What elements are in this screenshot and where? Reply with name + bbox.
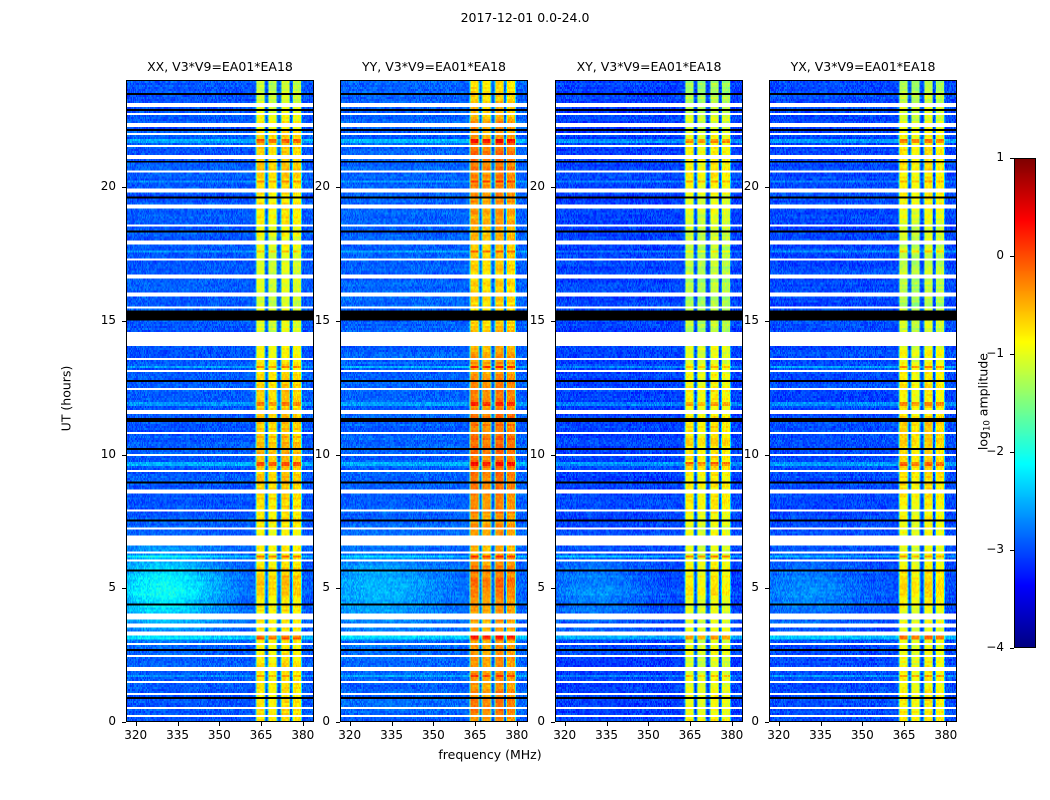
colorbar-gradient: [1014, 158, 1036, 648]
y-tick-label: 10: [705, 447, 759, 461]
x-tick-mark: [904, 722, 905, 726]
x-tick-mark: [219, 722, 220, 726]
panel-yy: YY, V3*V9=EA01*EA18: [340, 80, 528, 722]
y-tick-mark: [336, 722, 340, 723]
waterfall-image-xx: [126, 80, 314, 722]
y-tick-mark: [551, 187, 555, 188]
y-tick-mark: [765, 455, 769, 456]
colorbar-tick-mark: [1010, 452, 1014, 453]
y-tick-label: 20: [276, 179, 330, 193]
x-tick-mark: [648, 722, 649, 726]
x-tick-mark: [690, 722, 691, 726]
x-tick-label: 380: [492, 728, 542, 742]
x-tick-mark: [136, 722, 137, 726]
y-tick-label: 20: [62, 179, 116, 193]
y-tick-label: 15: [705, 313, 759, 327]
y-tick-label: 10: [62, 447, 116, 461]
y-tick-label: 20: [491, 179, 545, 193]
figure-suptitle: 2017-12-01 0.0-24.0: [0, 10, 1050, 25]
figure-canvas: 2017-12-01 0.0-24.0 XX, V3*V9=EA01*EA18Y…: [0, 0, 1050, 800]
colorbar-label-subscript: 10: [983, 420, 993, 431]
y-tick-mark: [336, 455, 340, 456]
colorbar-tick-label: 0: [954, 248, 1004, 262]
y-tick-mark: [551, 321, 555, 322]
y-tick-label: 15: [491, 313, 545, 327]
y-tick-mark: [765, 187, 769, 188]
colorbar: [1014, 158, 1036, 648]
y-tick-mark: [336, 187, 340, 188]
y-tick-mark: [122, 588, 126, 589]
y-tick-label: 0: [62, 714, 116, 728]
y-tick-label: 10: [276, 447, 330, 461]
x-tick-label: 380: [921, 728, 971, 742]
x-tick-mark: [779, 722, 780, 726]
waterfall-image-yy: [340, 80, 528, 722]
waterfall-image-xy: [555, 80, 743, 722]
waterfall-image-yx: [769, 80, 957, 722]
y-tick-label: 5: [62, 580, 116, 594]
colorbar-tick-label: 1: [954, 150, 1004, 164]
x-axis-label: frequency (MHz): [0, 747, 980, 762]
y-tick-mark: [122, 455, 126, 456]
y-tick-mark: [122, 321, 126, 322]
y-tick-mark: [765, 588, 769, 589]
y-tick-mark: [551, 722, 555, 723]
x-tick-mark: [350, 722, 351, 726]
x-tick-mark: [821, 722, 822, 726]
x-tick-mark: [607, 722, 608, 726]
y-tick-mark: [551, 455, 555, 456]
y-tick-label: 20: [705, 179, 759, 193]
colorbar-tick-label: −3: [954, 542, 1004, 556]
y-tick-mark: [122, 187, 126, 188]
x-tick-label: 380: [278, 728, 328, 742]
y-tick-label: 5: [705, 580, 759, 594]
y-tick-mark: [551, 588, 555, 589]
colorbar-label-prefix: log: [975, 431, 990, 450]
colorbar-tick-mark: [1010, 648, 1014, 649]
y-tick-label: 15: [276, 313, 330, 327]
y-tick-mark: [765, 722, 769, 723]
panel-title-yx: YX, V3*V9=EA01*EA18: [729, 59, 997, 74]
colorbar-tick-mark: [1010, 550, 1014, 551]
colorbar-label: log10 amplitude: [975, 322, 992, 482]
y-tick-label: 15: [62, 313, 116, 327]
y-tick-label: 0: [276, 714, 330, 728]
y-tick-label: 5: [276, 580, 330, 594]
y-tick-label: 10: [491, 447, 545, 461]
y-tick-mark: [122, 722, 126, 723]
x-tick-mark: [433, 722, 434, 726]
x-tick-mark: [946, 722, 947, 726]
panel-xy: XY, V3*V9=EA01*EA18: [555, 80, 743, 722]
y-tick-label: 0: [705, 714, 759, 728]
x-tick-mark: [178, 722, 179, 726]
x-tick-mark: [261, 722, 262, 726]
x-tick-mark: [475, 722, 476, 726]
colorbar-label-suffix: amplitude: [975, 353, 990, 420]
colorbar-tick-mark: [1010, 354, 1014, 355]
panel-xx: XX, V3*V9=EA01*EA18: [126, 80, 314, 722]
y-tick-label: 5: [491, 580, 545, 594]
y-tick-mark: [336, 588, 340, 589]
colorbar-tick-label: −4: [954, 640, 1004, 654]
x-tick-mark: [392, 722, 393, 726]
colorbar-tick-mark: [1010, 256, 1014, 257]
x-tick-mark: [565, 722, 566, 726]
colorbar-tick-mark: [1010, 158, 1014, 159]
y-tick-mark: [765, 321, 769, 322]
y-tick-label: 0: [491, 714, 545, 728]
x-tick-mark: [862, 722, 863, 726]
panel-yx: YX, V3*V9=EA01*EA18: [769, 80, 957, 722]
y-tick-mark: [336, 321, 340, 322]
x-tick-label: 380: [707, 728, 757, 742]
